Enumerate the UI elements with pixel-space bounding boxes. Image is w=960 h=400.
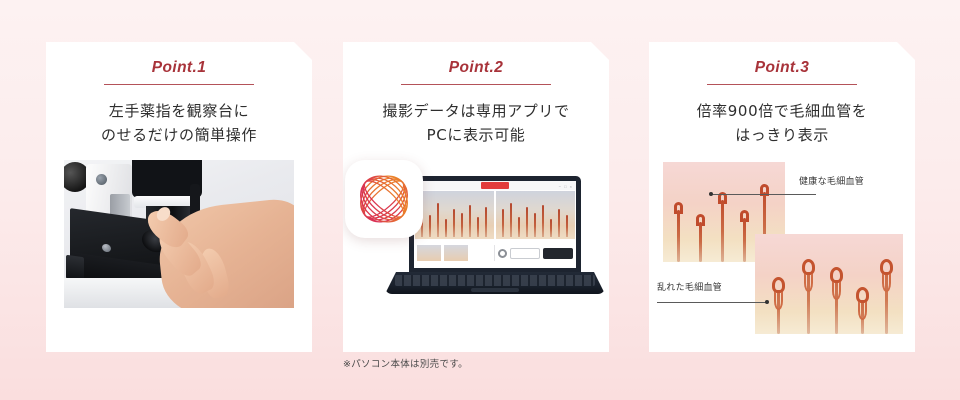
card-1-title-line1: 左手薬指を観察台に: [46, 99, 312, 124]
microscope-photo: [64, 160, 294, 308]
secondary-action-button[interactable]: [510, 248, 540, 259]
point-card-1: Point.1 左手薬指を観察台に のせるだけの簡単操作: [46, 42, 312, 352]
point-label-2: Point.2: [343, 60, 609, 76]
bottom-bar-divider: [494, 245, 495, 261]
disordered-capillary-image: [755, 234, 903, 334]
capillary-comparison: 健康な毛細血管 乱れた毛細血管: [649, 160, 915, 336]
primary-action-button[interactable]: [543, 248, 573, 259]
point-label-3: Point.3: [649, 60, 915, 76]
laptop-screen: − □ ×: [414, 181, 576, 268]
card-2-title: 撮影データは専用アプリで PCに表示可能: [343, 99, 609, 149]
microscope-focus-knob: [96, 174, 107, 185]
gear-icon[interactable]: [498, 249, 507, 258]
laptop-illustration: − □ ×: [343, 160, 609, 312]
card-2-media: − □ ×: [343, 160, 609, 312]
laptop-keyboard: [395, 275, 595, 286]
card-1-title-line2: のせるだけの簡単操作: [46, 123, 312, 148]
annotation-healthy-label: 健康な毛細血管: [799, 174, 864, 187]
card-2-header: Point.2: [343, 42, 609, 85]
annotation-healthy-leader-line: [712, 194, 816, 195]
app-bottom-bar: [414, 240, 576, 266]
point-divider-2: [401, 84, 551, 85]
point-divider-3: [707, 84, 857, 85]
card-3-media: 健康な毛細血管 乱れた毛細血管: [649, 160, 915, 336]
window-controls-icon[interactable]: − □ ×: [559, 184, 573, 189]
card-1-media: [46, 160, 312, 308]
capillary-app-icon[interactable]: [345, 160, 423, 238]
card-2-title-line2: PCに表示可能: [343, 123, 609, 148]
card-1-title: 左手薬指を観察台に のせるだけの簡単操作: [46, 99, 312, 149]
point-divider-1: [104, 84, 254, 85]
image-compare-panes: [414, 190, 576, 240]
page-root: Point.1 左手薬指を観察台に のせるだけの簡単操作: [0, 0, 960, 400]
annotation-disordered-label: 乱れた毛細血管: [657, 280, 722, 293]
thumbnail-1[interactable]: [417, 245, 441, 261]
laptop-lid: − □ ×: [409, 176, 581, 272]
point-card-2: Point.2 撮影データは専用アプリで PCに表示可能 − □ ×: [343, 42, 609, 352]
card-3-title-line1: 倍率900倍で毛細血管を: [649, 99, 915, 124]
capillary-pane-left[interactable]: [415, 191, 494, 239]
card-2-title-line1: 撮影データは専用アプリで: [343, 99, 609, 124]
footnote-pc-sold-separately: ※パソコン本体は別売です。: [343, 356, 468, 370]
laptop-trackpad: [471, 288, 519, 292]
annotation-disordered-leader-line: [657, 302, 767, 303]
capillary-pane-right[interactable]: [496, 191, 575, 239]
point-card-3: Point.3 倍率900倍で毛細血管を はっきり表示: [649, 42, 915, 352]
card-3-title-line2: はっきり表示: [649, 123, 915, 148]
point-label-1: Point.1: [46, 60, 312, 76]
card-3-title: 倍率900倍で毛細血管を はっきり表示: [649, 99, 915, 149]
record-button[interactable]: [481, 182, 509, 189]
card-3-header: Point.3: [649, 42, 915, 85]
thumbnail-2[interactable]: [444, 245, 468, 261]
annotation-healthy-point-marker: [709, 192, 713, 196]
app-toolbar: − □ ×: [414, 181, 576, 190]
laptop-base: [385, 272, 605, 294]
annotation-disordered-point-marker: [765, 300, 769, 304]
card-1-header: Point.1: [46, 42, 312, 85]
